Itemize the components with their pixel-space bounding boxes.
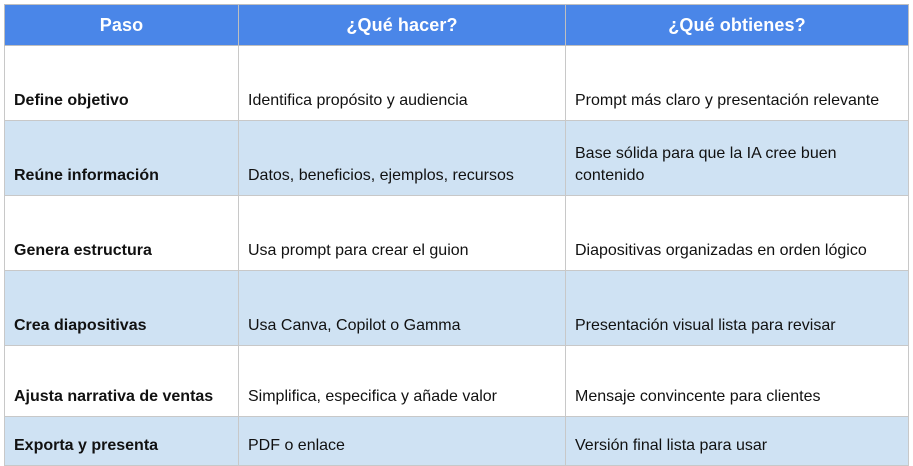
steps-table: Paso ¿Qué hacer? ¿Qué obtienes? Define o… [4, 4, 909, 466]
cell-what-you-get: Versión final lista para usar [566, 417, 909, 466]
column-header-que-hacer: ¿Qué hacer? [239, 5, 566, 46]
table-row: Genera estructura Usa prompt para crear … [5, 196, 909, 271]
cell-step: Exporta y presenta [5, 417, 239, 466]
cell-what-to-do: Simplifica, especifica y añade valor [239, 346, 566, 417]
table-body: Define objetivo Identifica propósito y a… [5, 46, 909, 466]
table-header: Paso ¿Qué hacer? ¿Qué obtienes? [5, 5, 909, 46]
cell-step: Reúne información [5, 121, 239, 196]
cell-what-to-do: PDF o enlace [239, 417, 566, 466]
cell-step: Ajusta narrativa de ventas [5, 346, 239, 417]
column-header-paso: Paso [5, 5, 239, 46]
page-root: Paso ¿Qué hacer? ¿Qué obtienes? Define o… [0, 0, 913, 445]
cell-step: Define objetivo [5, 46, 239, 121]
cell-what-to-do: Identifica propósito y audiencia [239, 46, 566, 121]
cell-what-you-get: Presentación visual lista para revisar [566, 271, 909, 346]
table-row: Ajusta narrativa de ventas Simplifica, e… [5, 346, 909, 417]
cell-what-to-do: Datos, beneficios, ejemplos, recursos [239, 121, 566, 196]
cell-step: Crea diapositivas [5, 271, 239, 346]
header-row: Paso ¿Qué hacer? ¿Qué obtienes? [5, 5, 909, 46]
table-row: Crea diapositivas Usa Canva, Copilot o G… [5, 271, 909, 346]
cell-what-you-get: Diapositivas organizadas en orden lógico [566, 196, 909, 271]
table-row: Define objetivo Identifica propósito y a… [5, 46, 909, 121]
column-header-que-obtienes: ¿Qué obtienes? [566, 5, 909, 46]
table-row: Exporta y presenta PDF o enlace Versión … [5, 417, 909, 466]
cell-step: Genera estructura [5, 196, 239, 271]
table-row: Reúne información Datos, beneficios, eje… [5, 121, 909, 196]
cell-what-to-do: Usa prompt para crear el guion [239, 196, 566, 271]
cell-what-to-do: Usa Canva, Copilot o Gamma [239, 271, 566, 346]
cell-what-you-get: Prompt más claro y presentación relevant… [566, 46, 909, 121]
cell-what-you-get: Base sólida para que la IA cree buen con… [566, 121, 909, 196]
cell-what-you-get: Mensaje convincente para clientes [566, 346, 909, 417]
